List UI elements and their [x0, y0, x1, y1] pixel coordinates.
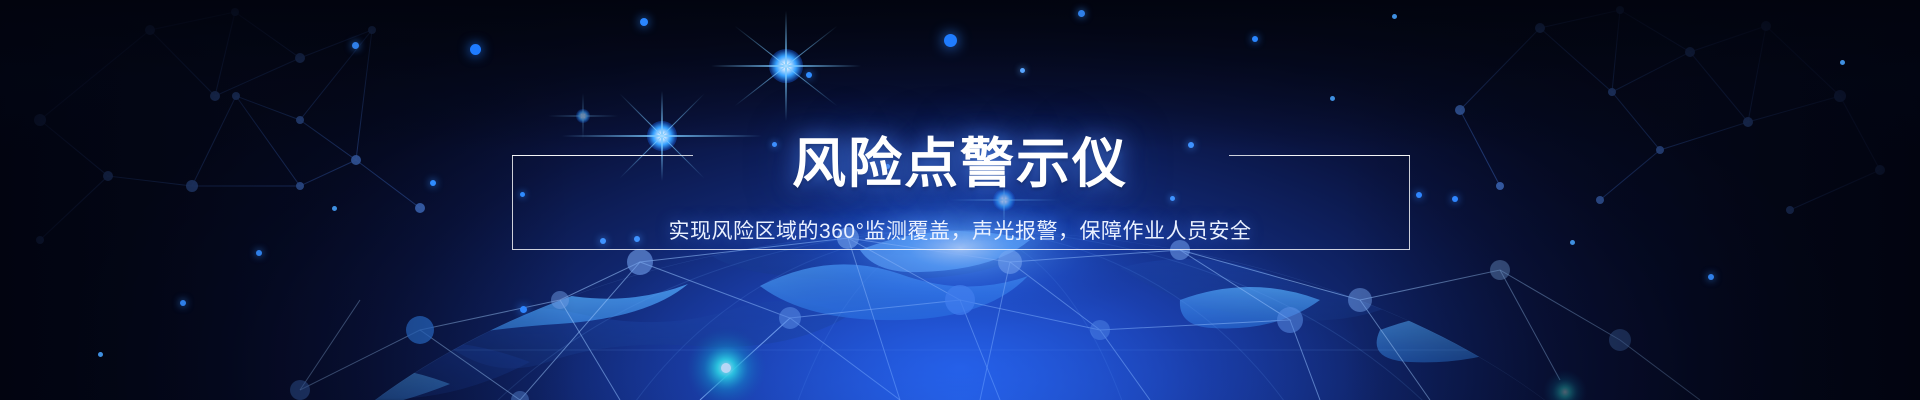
page-subtitle: 实现风险区域的360°监测覆盖，声光报警，保障作业人员安全	[0, 217, 1920, 247]
page-title: 风险点警示仪	[0, 134, 1920, 194]
hero-banner: 风险点警示仪 实现风险区域的360°监测覆盖，声光报警，保障作业人员安全	[0, 0, 1920, 400]
banner-content: 风险点警示仪 实现风险区域的360°监测覆盖，声光报警，保障作业人员安全	[0, 0, 1920, 400]
